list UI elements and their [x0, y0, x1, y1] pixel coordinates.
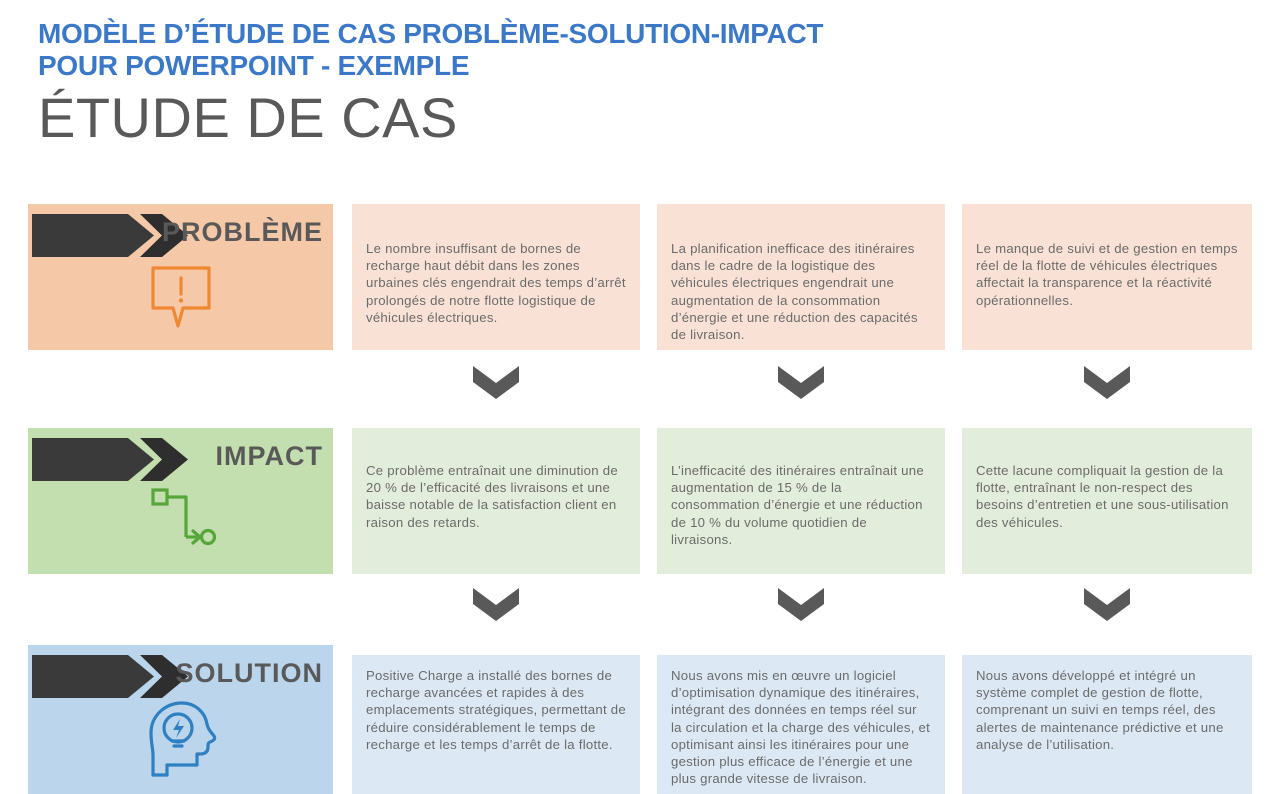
- label-panel-solution: SOLUTION: [28, 645, 333, 794]
- column-number-1: 1: [352, 204, 640, 210]
- cell-text: Ce problème entraînait une diminution de…: [352, 462, 640, 531]
- cell-text: Cette lacune compliquait la gestion de l…: [962, 462, 1252, 531]
- header-kicker: MODÈLE D’ÉTUDE DE CAS PROBLÈME-SOLUTION-…: [38, 18, 1138, 82]
- page-header: MODÈLE D’ÉTUDE DE CAS PROBLÈME-SOLUTION-…: [38, 18, 1138, 148]
- column-number-2: 2: [657, 204, 945, 210]
- head-lightbulb-idea-icon: [139, 699, 223, 779]
- cell-solution-1: Positive Charge a installé des bornes de…: [352, 655, 640, 794]
- cell-probleme-2: 2 La planification inefficace des itinér…: [657, 204, 945, 350]
- cell-impact-3: Cette lacune compliquait la gestion de l…: [962, 428, 1252, 574]
- speech-bubble-alert-icon: [145, 262, 217, 334]
- cell-impact-2: L’inefficacité des itinéraires entraînai…: [657, 428, 945, 574]
- label-panel-impact: IMPACT: [28, 428, 333, 574]
- chevron-down-icon: [778, 366, 824, 400]
- page-title: ÉTUDE DE CAS: [38, 88, 1138, 148]
- cell-impact-1: Ce problème entraînait une diminution de…: [352, 428, 640, 574]
- chevron-down-icon: [1084, 366, 1130, 400]
- cell-text: L’inefficacité des itinéraires entraînai…: [657, 462, 945, 548]
- cell-probleme-3: 3 Le manque de suivi et de gestion en te…: [962, 204, 1252, 350]
- cell-text: Le manque de suivi et de gestion en temp…: [962, 240, 1252, 309]
- cell-text: Nous avons développé et intégré un systè…: [962, 667, 1252, 753]
- cell-solution-2: Nous avons mis en œuvre un logiciel d’op…: [657, 655, 945, 794]
- row-probleme: PROBLÈME 1 Le nombre insuffisant de born…: [0, 204, 1280, 350]
- chevron-down-icon: [778, 588, 824, 622]
- double-arrow-badge-icon: [32, 653, 192, 700]
- cell-probleme-1: 1 Le nombre insuffisant de bornes de rec…: [352, 204, 640, 350]
- process-flow-icon: [145, 484, 217, 556]
- row-label-probleme: PROBLÈME: [162, 216, 323, 248]
- row-label-solution: SOLUTION: [176, 657, 324, 689]
- row-solution: SOLUTION Positive Charge a installé des …: [0, 645, 1280, 794]
- cell-text: Nous avons mis en œuvre un logiciel d’op…: [657, 667, 945, 787]
- chevron-down-icon: [473, 366, 519, 400]
- cell-text: Positive Charge a installé des bornes de…: [352, 667, 640, 753]
- double-arrow-badge-icon: [32, 436, 192, 483]
- column-number-3: 3: [962, 204, 1252, 210]
- cell-solution-3: Nous avons développé et intégré un systè…: [962, 655, 1252, 794]
- label-panel-probleme: PROBLÈME: [28, 204, 333, 350]
- cell-text: La planification inefficace des itinérai…: [657, 240, 945, 343]
- chevron-down-icon: [1084, 588, 1130, 622]
- cell-text: Le nombre insuffisant de bornes de recha…: [352, 240, 640, 326]
- row-impact: IMPACT Ce problème entraînait une diminu…: [0, 428, 1280, 574]
- row-label-impact: IMPACT: [216, 440, 324, 472]
- chevron-down-icon: [473, 588, 519, 622]
